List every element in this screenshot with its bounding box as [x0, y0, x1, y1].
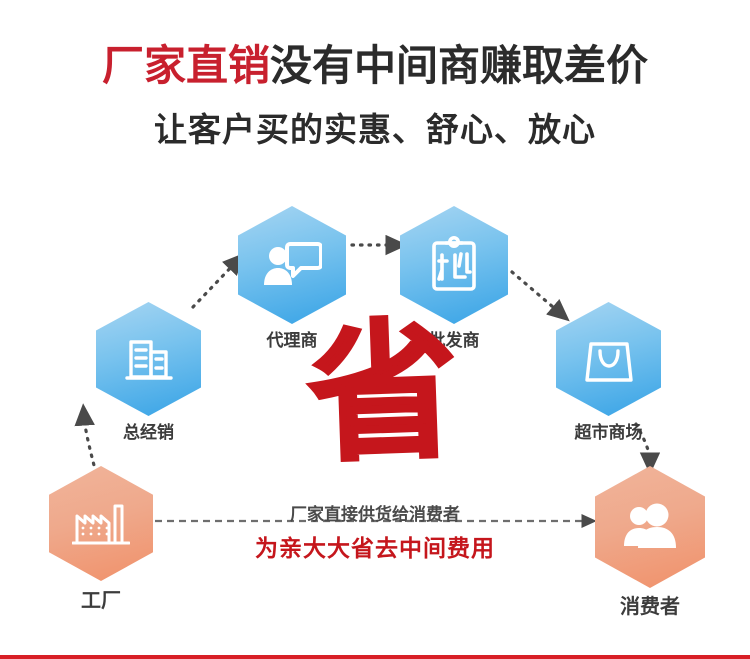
- node-market[interactable]: 超市商场: [556, 302, 661, 416]
- node-consumer[interactable]: 消费者: [595, 466, 705, 588]
- headline-rest: 没有中间商赚取差价: [270, 41, 648, 90]
- person-chat-icon: [262, 238, 322, 292]
- direct-supply-text: 厂家直接供货给消费者: [0, 500, 750, 525]
- arrow-distributor-to-agent: [193, 262, 236, 307]
- shopping-bag-icon: [583, 332, 635, 386]
- node-market-label: 超市商场: [575, 418, 643, 443]
- clipboard-pi-icon: [428, 235, 480, 295]
- node-distributor-label: 总经销: [123, 418, 174, 443]
- headline-highlight: 厂家直销: [102, 41, 270, 90]
- savings-text: 为亲大大省去中间费用: [0, 529, 750, 563]
- hexagon-market: [556, 302, 661, 416]
- hexagon-consumer: [595, 466, 705, 588]
- node-distributor[interactable]: 总经销: [96, 302, 201, 416]
- arrow-factory-to-distributor: [84, 416, 96, 473]
- bottom-divider: [0, 655, 750, 659]
- node-consumer-label: 消费者: [620, 590, 680, 619]
- poster-canvas: 厂家直销没有中间商赚取差价 让客户买的实惠、舒心、放心: [0, 0, 750, 659]
- office-building-icon: [121, 331, 177, 387]
- node-factory-label: 工厂: [81, 584, 121, 613]
- arrow-wholesale-to-market: [512, 272, 560, 313]
- stamp-character: 省: [300, 315, 465, 470]
- page-title: 厂家直销没有中间商赚取差价: [0, 44, 750, 89]
- page-subtitle: 让客户买的实惠、舒心、放心: [0, 103, 750, 151]
- hexagon-distributor: [96, 302, 201, 416]
